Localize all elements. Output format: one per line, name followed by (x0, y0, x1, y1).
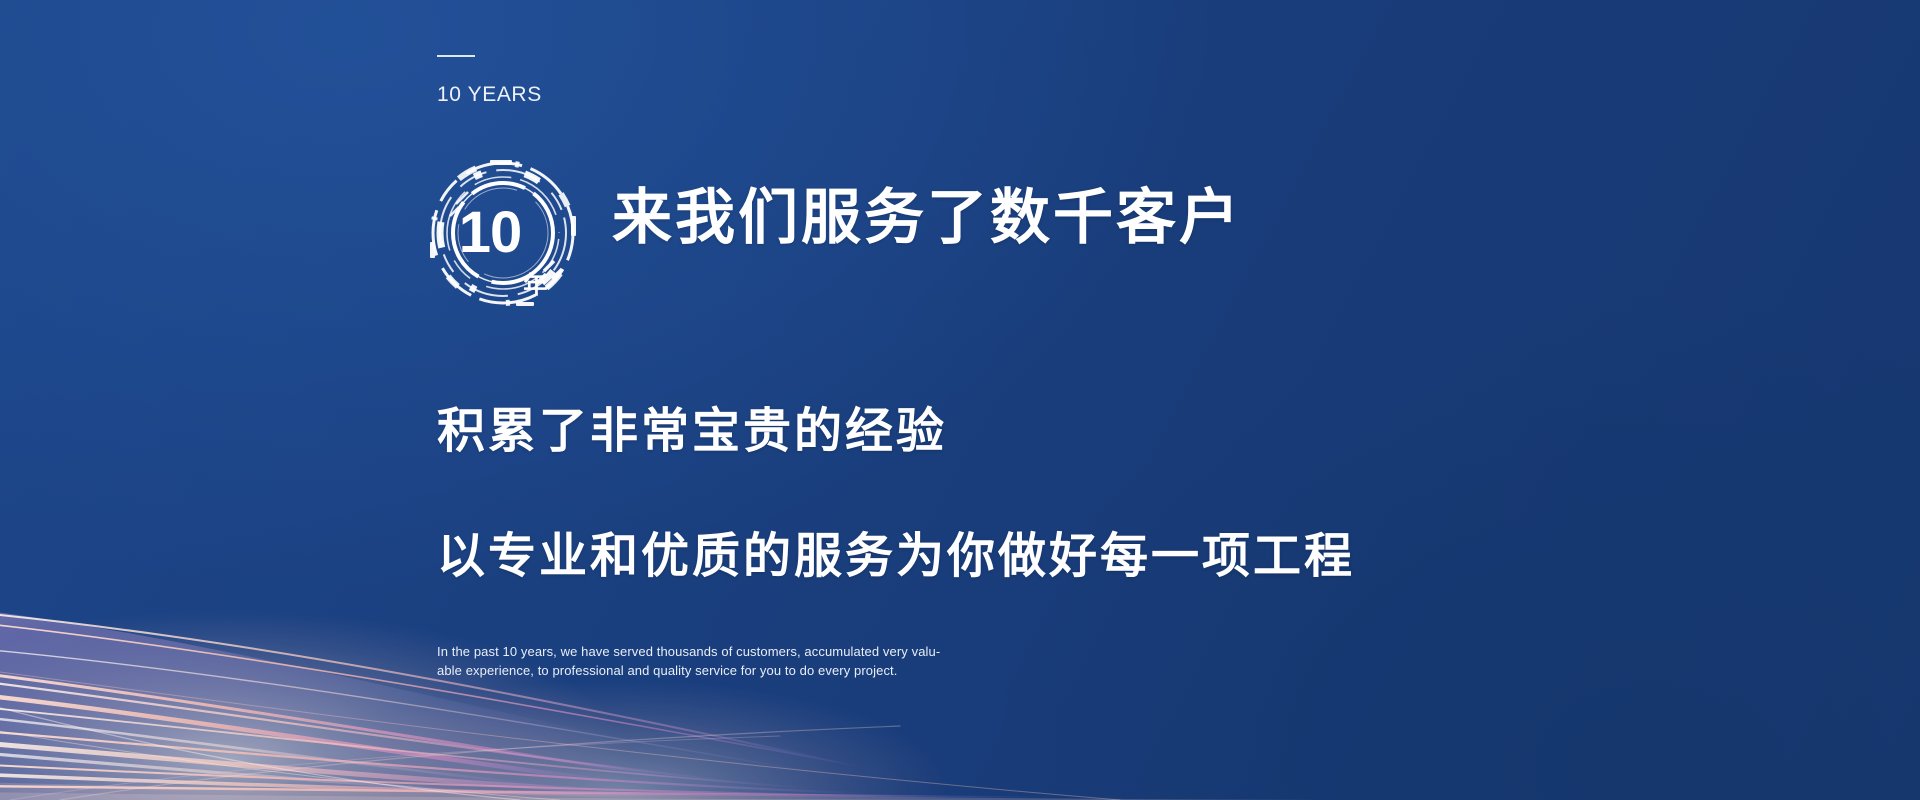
banner-content: 10 YEARS (0, 0, 1920, 800)
tagline: 以专业和优质的服务为你做好每一项工程 (437, 533, 1355, 581)
eyebrow-rule (437, 55, 475, 57)
description-line-2: able experience, to professional and qua… (437, 661, 877, 680)
hero-banner: 10 YEARS (0, 0, 1920, 800)
emblem-text: 10 年 (428, 158, 578, 308)
description-line-1: In the past 10 years, we have served tho… (437, 642, 877, 661)
subheadline: 积累了非常宝贵的经验 (437, 408, 947, 456)
anniversary-emblem: 10 年 (428, 158, 578, 308)
eyebrow-label: 10 YEARS (437, 84, 542, 105)
emblem-unit: 年 (523, 274, 547, 298)
description-paragraph: In the past 10 years, we have served tho… (437, 642, 877, 680)
emblem-number: 10 (459, 204, 522, 262)
headline: 来我们服务了数千客户 (612, 188, 1242, 248)
